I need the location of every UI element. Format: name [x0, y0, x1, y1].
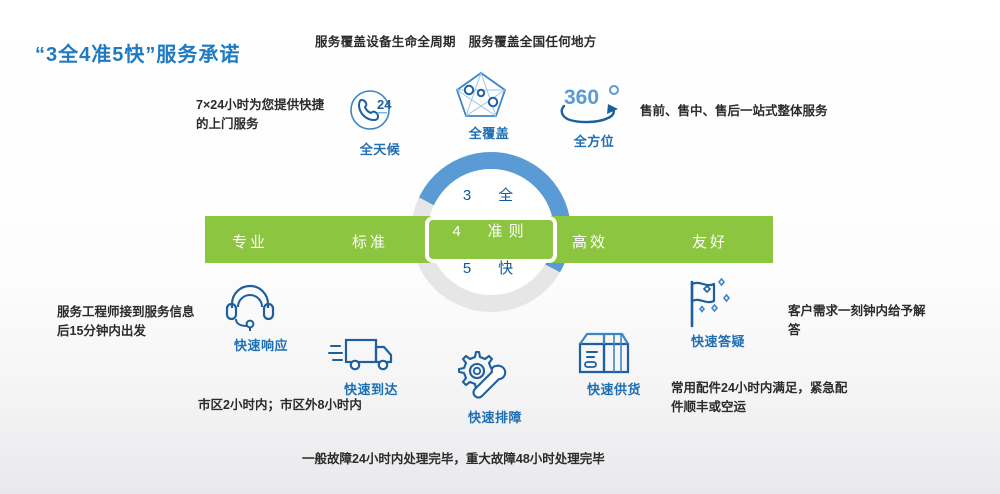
band-label-standard: 标准	[352, 231, 388, 252]
page-title: “3全4准5快”服务承诺	[35, 38, 240, 67]
360-degree-icon: 360	[556, 82, 632, 128]
service-commitment-slide: “3全4准5快”服务承诺 服务覆盖设备生命全周期 服务覆盖全国任何地方 7×24…	[0, 0, 1000, 494]
note-presales-aftersales: 售前、售中、售后一站式整体服务	[640, 102, 828, 121]
phone-24h-icon: 24	[344, 88, 416, 136]
band-label-friendly: 友好	[692, 231, 728, 252]
icon-block-response: 快速响应	[222, 280, 300, 354]
svg-text:24: 24	[377, 97, 392, 112]
icon-block-360: 360 全方位	[556, 82, 632, 150]
gear-wrench-icon	[452, 348, 538, 404]
note-arrival-time: 市区2小时内；市区外8小时内	[198, 396, 362, 415]
icon-block-supply: 快速供货	[574, 330, 654, 398]
icon-block-answer: 快速答疑	[678, 278, 758, 350]
icon-caption-coverage: 全覆盖	[452, 123, 526, 142]
svg-text:360: 360	[564, 86, 599, 109]
icon-caption-360: 全方位	[556, 131, 632, 150]
icon-block-fix: 快速排障	[452, 348, 538, 426]
note-spare-parts: 常用配件24小时内满足，紧急配 件顺丰或空运	[671, 379, 876, 417]
icon-caption-response: 快速响应	[222, 335, 300, 354]
icon-caption-answer: 快速答疑	[678, 331, 758, 350]
icon-caption-24h: 全天候	[344, 139, 416, 158]
icon-block-arrive: 快速到达	[328, 332, 414, 398]
icon-block-coverage: 全覆盖	[452, 68, 526, 142]
open-box-icon	[574, 330, 654, 376]
icon-block-24h: 24 全天候	[344, 88, 416, 158]
band-label-professional: 专业	[232, 231, 268, 252]
note-answer-time: 客户需求一刻钟内给予解 答	[788, 302, 940, 340]
headset-icon	[222, 280, 300, 332]
delivery-truck-icon	[328, 332, 414, 376]
principles-capsule	[429, 220, 553, 259]
band-label-efficient: 高效	[572, 231, 608, 252]
network-coverage-icon	[452, 68, 526, 120]
flag-icon	[678, 278, 758, 328]
icon-caption-arrive: 快速到达	[328, 379, 414, 398]
note-fault-resolution: 一般故障24小时内处理完毕，重大故障48小时处理完毕	[302, 450, 605, 469]
note-coverage-scope: 服务覆盖设备生命全周期 服务覆盖全国任何地方	[315, 33, 597, 52]
icon-caption-fix: 快速排障	[452, 407, 538, 426]
icon-caption-supply: 快速供货	[574, 379, 654, 398]
